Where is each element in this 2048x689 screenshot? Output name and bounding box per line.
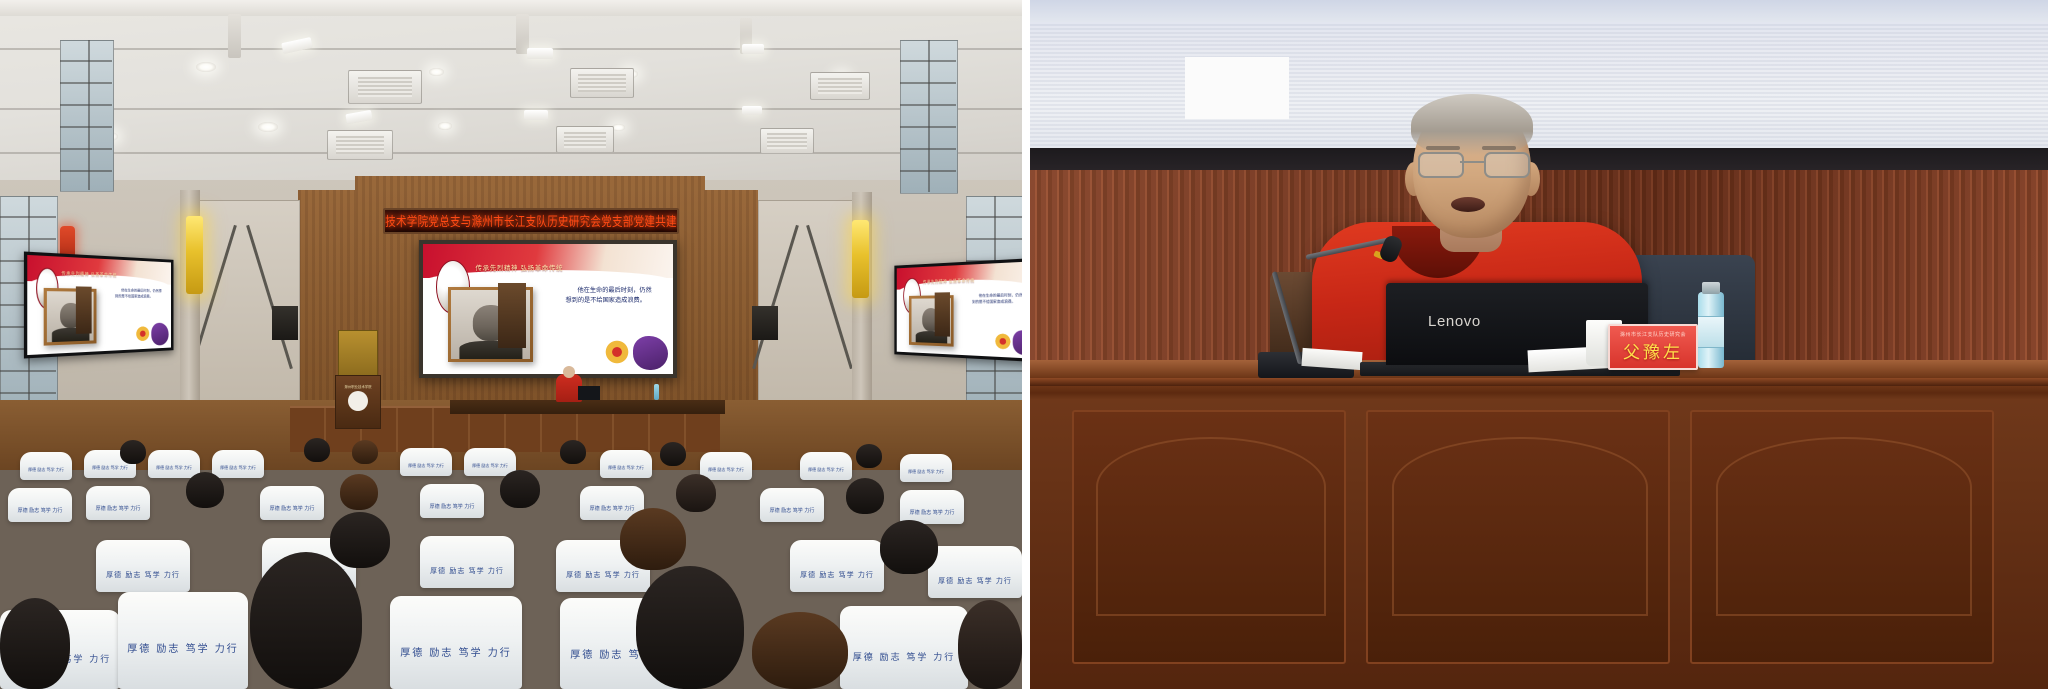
seat-cover-text: 厚德 励志 笃学 力行 bbox=[212, 465, 264, 471]
window-grid bbox=[900, 40, 956, 192]
audience-head bbox=[752, 612, 848, 689]
downlight bbox=[258, 122, 278, 132]
projection-screen-background bbox=[1030, 0, 2048, 152]
audience-head bbox=[0, 598, 70, 689]
audience-head bbox=[636, 566, 744, 689]
desk-front-panel bbox=[1072, 410, 1346, 664]
seat-cover-text: 厚德 励志 笃学 力行 bbox=[900, 469, 952, 475]
glasses-lens-left bbox=[1418, 152, 1464, 178]
seat: 厚德 励志 笃学 力行 bbox=[928, 546, 1022, 598]
strip-light bbox=[742, 44, 764, 54]
slide-flower-icon bbox=[993, 331, 1013, 352]
slide-decor-shape bbox=[151, 323, 169, 346]
seat: 厚德 励志 笃学 力行 bbox=[390, 596, 522, 689]
ac-cassette-unit bbox=[556, 126, 614, 153]
seat: 厚德 励志 笃学 力行 bbox=[400, 448, 452, 476]
ceiling-beam bbox=[0, 0, 1022, 16]
audience-head bbox=[330, 512, 390, 568]
audience-head bbox=[340, 474, 378, 510]
seat: 厚德 励志 笃学 力行 bbox=[260, 486, 324, 520]
side-display-right: 传承先烈精神 弘扬革命传统 他在生命的最后时刻，仍然想到的是不给国家造成浪费。 bbox=[894, 258, 1022, 363]
seat-cover-text: 厚德 励志 笃学 力行 bbox=[400, 463, 452, 469]
ac-cassette-unit bbox=[570, 68, 634, 98]
water-bottle-label bbox=[1698, 316, 1724, 348]
audience-head bbox=[186, 472, 224, 508]
podium-logo-icon bbox=[348, 391, 368, 411]
slide-content: 传承先烈精神 弘扬革命传统 他在生命的最后时刻，仍然想到的是不给国家造成浪费。 bbox=[27, 255, 171, 355]
screen-bright-patch bbox=[1185, 57, 1289, 119]
desk-lip bbox=[1030, 378, 2048, 386]
slide-content: 传承先烈精神 弘扬革命传统 他在生命的最后时刻，仍然想到的是不给国家造成浪费。 bbox=[423, 244, 673, 374]
nameplate: 滁州市长江支队历史研究会 父豫左 bbox=[1608, 324, 1698, 370]
screen-top-band bbox=[1030, 0, 2048, 22]
ceiling-edge bbox=[0, 152, 1022, 154]
wood-wall-right bbox=[704, 190, 758, 402]
seat-cover-text: 厚德 励志 笃学 力行 bbox=[86, 505, 150, 512]
wall-sconce bbox=[852, 220, 869, 298]
seat: 厚德 励志 笃学 力行 bbox=[700, 452, 752, 480]
seat-cover-text: 厚德 励志 笃学 力行 bbox=[8, 507, 72, 514]
seat: 厚德 励志 笃学 力行 bbox=[800, 452, 852, 480]
ac-cassette-unit bbox=[348, 70, 422, 104]
stage-water-bottle bbox=[654, 384, 659, 400]
led-banner: 医学技术学院党总支与滁州市长江支队历史研究会党支部党建共建活动 bbox=[383, 208, 679, 234]
seat: 厚德 励志 笃学 力行 bbox=[148, 450, 200, 478]
seat: 厚德 励志 笃学 力行 bbox=[790, 540, 884, 592]
seat: 厚德 励志 笃学 力行 bbox=[900, 490, 964, 524]
seat-cover-text: 厚德 励志 笃学 力行 bbox=[928, 576, 1022, 586]
seat-cover-text: 厚德 励志 笃学 力行 bbox=[390, 644, 522, 659]
stage-laptop bbox=[578, 386, 600, 400]
seat-cover-text: 厚德 励志 笃学 力行 bbox=[580, 505, 644, 512]
ceiling-track bbox=[228, 14, 241, 58]
downlight bbox=[438, 122, 452, 130]
slide-headline: 传承先烈精神 弘扬革命传统 bbox=[476, 262, 564, 272]
seat-cover-text: 厚德 励志 笃学 力行 bbox=[700, 467, 752, 473]
desk-front-panel bbox=[1366, 410, 1670, 664]
seat: 厚德 励志 笃学 力行 bbox=[118, 592, 248, 689]
seat: 厚德 励志 笃学 力行 bbox=[212, 450, 264, 478]
downlight bbox=[196, 62, 216, 72]
slide-decor-shape bbox=[1013, 330, 1022, 356]
slide-flower-icon bbox=[601, 338, 634, 367]
seat-cover-text: 厚德 励志 笃学 力行 bbox=[600, 465, 652, 471]
ceiling-edge bbox=[0, 48, 1022, 50]
led-banner-text: 医学技术学院党总支与滁州市长江支队历史研究会党支部党建共建活动 bbox=[383, 212, 679, 231]
seat: 厚德 励志 笃学 力行 bbox=[464, 448, 516, 476]
audience-head bbox=[352, 440, 378, 464]
slide-flower-icon bbox=[134, 324, 151, 344]
seat-cover-text: 厚德 励志 笃学 力行 bbox=[800, 467, 852, 473]
audience-head bbox=[660, 442, 686, 466]
audience-head bbox=[846, 478, 884, 514]
seat-cover-text: 厚德 励志 笃学 力行 bbox=[900, 509, 964, 516]
glasses-bridge bbox=[1460, 161, 1484, 163]
water-bottle-cap bbox=[1702, 282, 1720, 294]
audience-head bbox=[500, 470, 540, 508]
audience-head bbox=[958, 600, 1022, 689]
seat-cover-text: 厚德 励志 笃学 力行 bbox=[790, 570, 884, 580]
ceiling-edge bbox=[0, 108, 1022, 110]
wall-sconce bbox=[186, 216, 203, 294]
seat-cover-text: 厚德 励志 笃学 力行 bbox=[96, 570, 190, 580]
slide-side-photo bbox=[498, 283, 526, 348]
audience-head bbox=[880, 520, 938, 574]
loudspeaker-left bbox=[272, 306, 298, 340]
audience-head bbox=[304, 438, 330, 462]
audience-head bbox=[120, 440, 146, 464]
speaker-glasses bbox=[1418, 152, 1526, 174]
strip-light bbox=[742, 106, 762, 115]
slide-content: 传承先烈精神 弘扬革命传统 他在生命的最后时刻，仍然想到的是不给国家造成浪费。 bbox=[897, 261, 1022, 359]
slide-side-photo bbox=[75, 286, 91, 334]
seat: 厚德 励志 笃学 力行 bbox=[840, 606, 968, 689]
seat: 厚德 励志 笃学 力行 bbox=[900, 454, 952, 482]
audience-head bbox=[620, 508, 686, 570]
head-table bbox=[450, 400, 725, 414]
slide-decor-shape bbox=[633, 336, 668, 370]
stage-speaker-head bbox=[563, 366, 575, 378]
seat-cover-text: 厚德 励志 笃学 力行 bbox=[464, 463, 516, 469]
laptop-brand-label: Lenovo bbox=[1428, 313, 1481, 330]
seat-cover-text: 厚德 励志 笃学 力行 bbox=[556, 570, 650, 580]
main-projection-screen: 传承先烈精神 弘扬革命传统 他在生命的最后时刻，仍然想到的是不给国家造成浪费。 bbox=[419, 240, 677, 378]
desk-front-panel bbox=[1690, 410, 1994, 664]
seat-cover-text: 厚德 励志 笃学 力行 bbox=[118, 640, 248, 655]
nameplate-subtitle: 滁州市长江支队历史研究会 bbox=[1620, 331, 1686, 338]
slide-side-photo bbox=[935, 292, 950, 336]
slide-body-text: 他在生命的最后时刻，仍然想到的是不给国家造成浪费。 bbox=[115, 289, 163, 301]
seat: 厚德 励志 笃学 力行 bbox=[96, 540, 190, 592]
seat: 厚德 励志 笃学 力行 bbox=[600, 450, 652, 478]
ac-cassette-unit bbox=[327, 130, 393, 160]
photo-divider bbox=[1022, 0, 1030, 689]
ceiling bbox=[0, 0, 1022, 200]
seat: 厚德 励志 笃学 力行 bbox=[20, 452, 72, 480]
speaker-eyebrow-right bbox=[1482, 146, 1516, 150]
seat-cover-text: 厚德 励志 笃学 力行 bbox=[148, 465, 200, 471]
speaker-eyebrow-left bbox=[1426, 146, 1460, 150]
seat-cover-text: 厚德 励志 笃学 力行 bbox=[420, 503, 484, 510]
ac-cassette-unit bbox=[810, 72, 870, 100]
left-photo-auditorium: 医学技术学院党总支与滁州市长江支队历史研究会党支部党建共建活动 传承先烈精神 弘… bbox=[0, 0, 1022, 689]
seat: 厚德 励志 笃学 力行 bbox=[8, 488, 72, 522]
loudspeaker-right bbox=[752, 306, 778, 340]
seat: 厚德 励志 笃学 力行 bbox=[420, 484, 484, 518]
nameplate-name: 父豫左 bbox=[1623, 338, 1683, 363]
speaker-mouth bbox=[1451, 197, 1485, 212]
audience-head bbox=[676, 474, 716, 512]
strip-light bbox=[527, 48, 553, 59]
seat: 厚德 励志 笃学 力行 bbox=[760, 488, 824, 522]
right-photo-speaker: Lenovo 滁州市长江支队历史研究会 父豫左 bbox=[1030, 0, 2048, 689]
side-display-left: 传承先烈精神 弘扬革命传统 他在生命的最后时刻，仍然想到的是不给国家造成浪费。 bbox=[24, 251, 174, 358]
window-grid bbox=[60, 40, 112, 190]
seat: 厚德 励志 笃学 力行 bbox=[420, 536, 514, 588]
glasses-lens-right bbox=[1484, 152, 1530, 178]
seat-cover-text: 厚德 励志 笃学 力行 bbox=[260, 505, 324, 512]
seat-cover-text: 厚德 励志 笃学 力行 bbox=[20, 467, 72, 473]
slide-body-text: 他在生命的最后时刻，仍然想到的是不给国家造成浪费。 bbox=[566, 286, 656, 306]
seat-cover-text: 厚德 励志 笃学 力行 bbox=[420, 566, 514, 576]
composite-photo-pair: 医学技术学院党总支与滁州市长江支队历史研究会党支部党建共建活动 传承先烈精神 弘… bbox=[0, 0, 2048, 689]
seat-cover-text: 厚德 励志 笃学 力行 bbox=[760, 507, 824, 514]
ac-cassette-unit bbox=[760, 128, 814, 154]
strip-light bbox=[524, 110, 548, 120]
stage-banner bbox=[338, 330, 378, 380]
podium-label: 滁州职业技术学院 bbox=[344, 384, 371, 389]
seat-cover-text: 厚德 励志 笃学 力行 bbox=[840, 650, 968, 663]
audience-head bbox=[560, 440, 586, 464]
seat: 厚德 励志 笃学 力行 bbox=[86, 486, 150, 520]
audience-head bbox=[856, 444, 882, 468]
downlight bbox=[429, 68, 444, 76]
audience-head bbox=[250, 552, 362, 689]
slide-body-text: 他在生命的最后时刻，仍然想到的是不给国家造成浪费。 bbox=[972, 293, 1022, 306]
podium: 滁州职业技术学院 bbox=[335, 375, 381, 429]
seat-cover-text: 厚德 励志 笃学 力行 bbox=[84, 465, 136, 471]
